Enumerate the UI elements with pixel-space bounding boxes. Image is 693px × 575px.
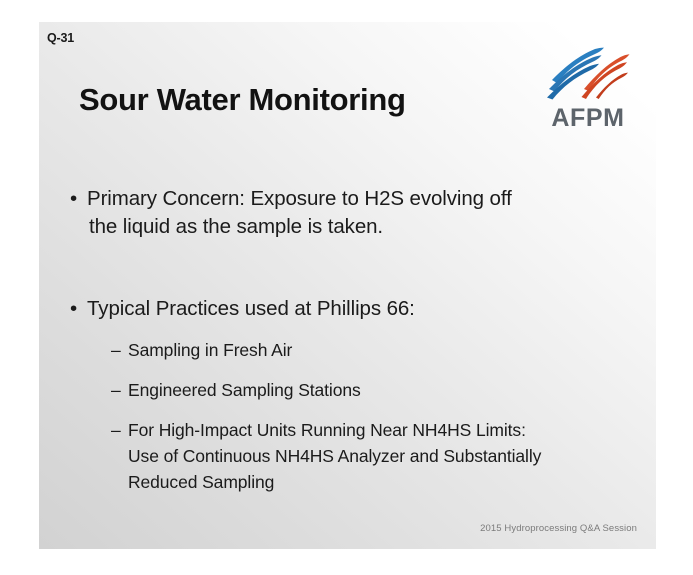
sub-bullet-text-line: Sampling in Fresh Air: [128, 337, 638, 363]
afpm-wordmark: AFPM: [540, 103, 636, 133]
sub-bullet-marker-icon: –: [111, 337, 121, 363]
bullet-text-line: the liquid as the sample is taken.: [87, 213, 638, 241]
bullet-text-line: Typical Practices used at Phillips 66:: [87, 295, 638, 323]
slide-footer: 2015 Hydroprocessing Q&A Session: [480, 523, 637, 534]
slide-viewer: Q-31 AFPM Sour Water Monitoring • Primar…: [0, 0, 693, 575]
sub-bullet-marker-icon: –: [111, 417, 121, 443]
sub-bullet-text-line: Engineered Sampling Stations: [128, 377, 638, 403]
sub-bullet-marker-icon: –: [111, 377, 121, 403]
spacer: [65, 241, 638, 295]
sub-bullet-text-line: Use of Continuous NH4HS Analyzer and Sub…: [128, 443, 638, 469]
sub-bullet-item: – Sampling in Fresh Air: [111, 337, 638, 363]
bullet-text-line: Primary Concern: Exposure to H2S evolvin…: [87, 185, 638, 213]
spacer: [65, 323, 638, 337]
bullet-item: • Primary Concern: Exposure to H2S evolv…: [65, 185, 638, 241]
sub-bullet-text-line: For High-Impact Units Running Near NH4HS…: [128, 417, 638, 443]
spacer: [65, 403, 638, 417]
bullet-marker-icon: •: [70, 295, 77, 323]
bullet-marker-icon: •: [70, 185, 77, 213]
sub-bullet-item: – Engineered Sampling Stations: [111, 377, 638, 403]
presentation-slide: Q-31 AFPM Sour Water Monitoring • Primar…: [39, 22, 656, 549]
bullet-item: • Typical Practices used at Phillips 66:: [65, 295, 638, 323]
afpm-logo: AFPM: [540, 39, 636, 143]
slide-title: Sour Water Monitoring: [79, 82, 406, 118]
slide-body: • Primary Concern: Exposure to H2S evolv…: [65, 185, 638, 495]
sub-bullet-text-line: Reduced Sampling: [128, 469, 638, 495]
afpm-flag-swoosh-icon: [540, 39, 636, 101]
question-number-label: Q-31: [47, 31, 74, 45]
sub-bullet-item: – For High-Impact Units Running Near NH4…: [111, 417, 638, 495]
spacer: [65, 363, 638, 377]
